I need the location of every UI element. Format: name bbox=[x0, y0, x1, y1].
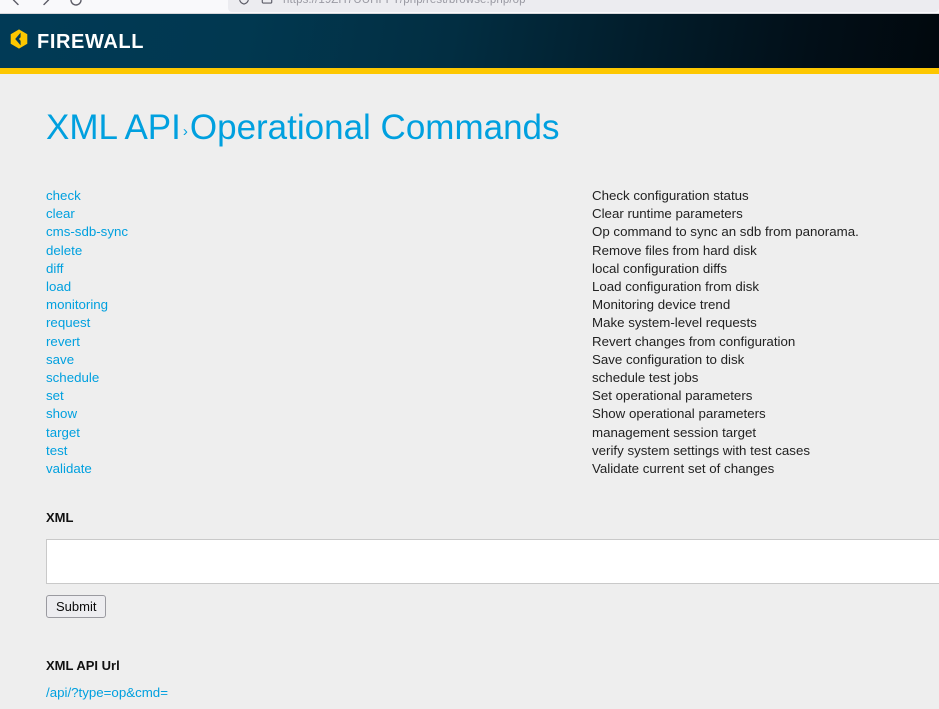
command-link-clear[interactable]: clear bbox=[46, 206, 75, 221]
command-name-cell: target bbox=[46, 424, 592, 442]
command-link-monitoring[interactable]: monitoring bbox=[46, 297, 108, 312]
command-name-cell: validate bbox=[46, 460, 592, 478]
command-description-cell: Clear runtime parameters bbox=[592, 205, 906, 223]
command-row: monitoringMonitoring device trend bbox=[46, 296, 906, 314]
command-description-cell: Load configuration from disk bbox=[592, 278, 906, 296]
command-row: testverify system settings with test cas… bbox=[46, 442, 906, 460]
command-name-cell: monitoring bbox=[46, 296, 592, 314]
command-description-cell: Remove files from hard disk bbox=[592, 242, 906, 260]
command-description: Make system-level requests bbox=[592, 315, 757, 330]
back-arrow-icon[interactable] bbox=[8, 0, 24, 8]
command-description: management session target bbox=[592, 425, 756, 440]
command-description: Save configuration to disk bbox=[592, 352, 744, 367]
command-link-target[interactable]: target bbox=[46, 425, 80, 440]
command-description: Show operational parameters bbox=[592, 406, 766, 421]
command-name-cell: set bbox=[46, 387, 592, 405]
command-row: scheduleschedule test jobs bbox=[46, 369, 906, 387]
command-link-set[interactable]: set bbox=[46, 388, 64, 403]
command-description-cell: Make system-level requests bbox=[592, 314, 906, 332]
xml-api-url-label: XML API Url bbox=[46, 659, 120, 672]
page-title-secondary: Operational Commands bbox=[190, 108, 560, 147]
command-link-revert[interactable]: revert bbox=[46, 334, 80, 349]
command-description-cell: local configuration diffs bbox=[592, 260, 906, 278]
browser-nav-buttons bbox=[0, 0, 84, 14]
page-body: XML API›Operational Commands checkCheck … bbox=[0, 74, 939, 709]
command-description: local configuration diffs bbox=[592, 261, 727, 276]
command-link-save[interactable]: save bbox=[46, 352, 74, 367]
xml-input[interactable] bbox=[46, 539, 939, 584]
command-name-cell: delete bbox=[46, 242, 592, 260]
command-description-cell: Show operational parameters bbox=[592, 405, 906, 423]
command-name-cell: schedule bbox=[46, 369, 592, 387]
browser-chrome: https://19ZH7UUHFFT/php/rest/browse.php/… bbox=[0, 0, 939, 14]
firewall-hexagon-logo-icon bbox=[8, 28, 30, 55]
url-text: https://19ZH7UUHFFT/php/rest/browse.php/… bbox=[283, 0, 526, 6]
page-title-primary: XML API bbox=[46, 108, 181, 147]
xml-api-url-link[interactable]: /api/?type=op&cmd= bbox=[46, 686, 168, 699]
command-description: schedule test jobs bbox=[592, 370, 698, 385]
command-row: cms-sdb-syncOp command to sync an sdb fr… bbox=[46, 223, 906, 241]
command-link-schedule[interactable]: schedule bbox=[46, 370, 99, 385]
command-description-cell: management session target bbox=[592, 424, 906, 442]
operational-commands-body: checkCheck configuration statusclearClea… bbox=[46, 187, 906, 478]
command-name-cell: check bbox=[46, 187, 592, 205]
command-link-show[interactable]: show bbox=[46, 406, 77, 421]
operational-commands-table: checkCheck configuration statusclearClea… bbox=[46, 187, 906, 478]
command-description: Remove files from hard disk bbox=[592, 243, 757, 258]
command-description: Clear runtime parameters bbox=[592, 206, 743, 221]
command-name-cell: clear bbox=[46, 205, 592, 223]
command-row: clearClear runtime parameters bbox=[46, 205, 906, 223]
command-link-check[interactable]: check bbox=[46, 188, 81, 203]
xml-field-label: XML bbox=[46, 511, 73, 524]
command-link-load[interactable]: load bbox=[46, 279, 71, 294]
command-name-cell: diff bbox=[46, 260, 592, 278]
command-description-cell: schedule test jobs bbox=[592, 369, 906, 387]
command-name-cell: save bbox=[46, 351, 592, 369]
command-description-cell: verify system settings with test cases bbox=[592, 442, 906, 460]
command-name-cell: cms-sdb-sync bbox=[46, 223, 592, 241]
breadcrumb-separator-icon: › bbox=[181, 123, 190, 140]
command-description-cell: Save configuration to disk bbox=[592, 351, 906, 369]
command-name-cell: revert bbox=[46, 333, 592, 351]
command-description-cell: Revert changes from configuration bbox=[592, 333, 906, 351]
command-link-diff[interactable]: diff bbox=[46, 261, 64, 276]
command-description: Set operational parameters bbox=[592, 388, 752, 403]
command-description-cell: Op command to sync an sdb from panorama. bbox=[592, 223, 906, 241]
command-description: Op command to sync an sdb from panorama. bbox=[592, 224, 859, 239]
command-link-request[interactable]: request bbox=[46, 315, 90, 330]
command-row: validateValidate current set of changes bbox=[46, 460, 906, 478]
brand-logo[interactable]: FIREWALL bbox=[8, 28, 144, 55]
shield-icon[interactable] bbox=[237, 0, 253, 8]
command-row: deleteRemove files from hard disk bbox=[46, 242, 906, 260]
command-link-cms-sdb-sync[interactable]: cms-sdb-sync bbox=[46, 224, 128, 239]
command-description: verify system settings with test cases bbox=[592, 443, 810, 458]
command-description-cell: Monitoring device trend bbox=[592, 296, 906, 314]
command-description: Revert changes from configuration bbox=[592, 334, 795, 349]
page-title: XML API›Operational Commands bbox=[46, 110, 560, 145]
command-row: setSet operational parameters bbox=[46, 387, 906, 405]
command-description: Load configuration from disk bbox=[592, 279, 759, 294]
command-row: checkCheck configuration status bbox=[46, 187, 906, 205]
address-bar[interactable]: https://19ZH7UUHFFT/php/rest/browse.php/… bbox=[228, 0, 939, 12]
command-row: showShow operational parameters bbox=[46, 405, 906, 423]
command-row: revertRevert changes from configuration bbox=[46, 333, 906, 351]
command-link-test[interactable]: test bbox=[46, 443, 67, 458]
command-description-cell: Check configuration status bbox=[592, 187, 906, 205]
command-description-cell: Set operational parameters bbox=[592, 387, 906, 405]
command-link-validate[interactable]: validate bbox=[46, 461, 92, 476]
command-description-cell: Validate current set of changes bbox=[592, 460, 906, 478]
brand-name: FIREWALL bbox=[37, 32, 144, 52]
command-description: Monitoring device trend bbox=[592, 297, 730, 312]
command-row: loadLoad configuration from disk bbox=[46, 278, 906, 296]
command-name-cell: load bbox=[46, 278, 592, 296]
reader-view-icon[interactable] bbox=[260, 0, 276, 8]
command-name-cell: test bbox=[46, 442, 592, 460]
command-description: Validate current set of changes bbox=[592, 461, 774, 476]
command-row: difflocal configuration diffs bbox=[46, 260, 906, 278]
command-name-cell: request bbox=[46, 314, 592, 332]
submit-button[interactable]: Submit bbox=[46, 595, 106, 618]
command-description: Check configuration status bbox=[592, 188, 749, 203]
command-name-cell: show bbox=[46, 405, 592, 423]
app-header: FIREWALL bbox=[0, 14, 939, 68]
command-row: requestMake system-level requests bbox=[46, 314, 906, 332]
reload-icon[interactable] bbox=[68, 0, 84, 8]
command-row: saveSave configuration to disk bbox=[46, 351, 906, 369]
command-link-delete[interactable]: delete bbox=[46, 243, 82, 258]
forward-arrow-icon[interactable] bbox=[38, 0, 54, 8]
command-row: targetmanagement session target bbox=[46, 424, 906, 442]
